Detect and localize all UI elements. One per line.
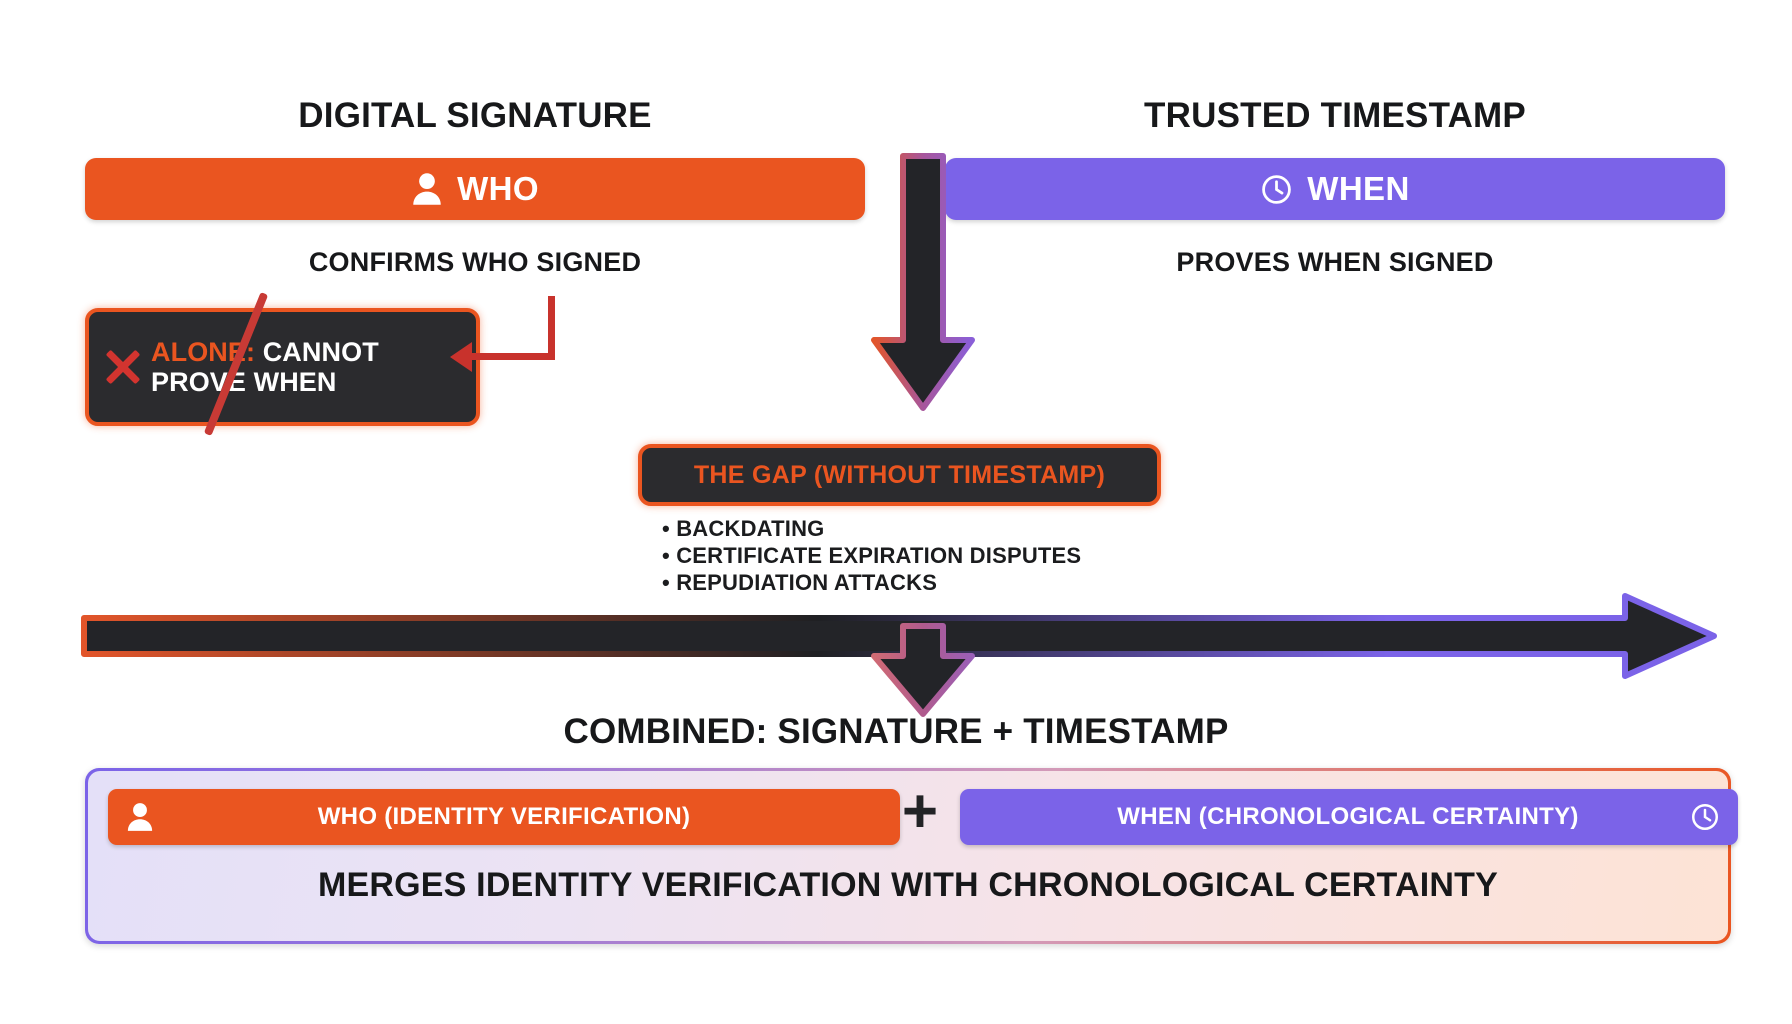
elbow-horizontal-segment	[472, 353, 555, 360]
combined-when-pill: WHEN (CHRONOLOGICAL CERTAINTY)	[960, 789, 1738, 845]
right-column-title: TRUSTED TIMESTAMP	[945, 96, 1725, 136]
person-icon	[126, 802, 154, 832]
combined-panel: WHO (IDENTITY VERIFICATION) + WHEN (CHRO…	[85, 768, 1731, 944]
alone-line1-rest: CANNOT	[255, 337, 379, 367]
gap-items-list: • BACKDATING • CERTIFICATE EXPIRATION DI…	[662, 516, 1081, 596]
combined-when-label: WHEN (CHRONOLOGICAL CERTAINTY)	[1006, 803, 1690, 831]
combined-panel-inner: WHO (IDENTITY VERIFICATION) + WHEN (CHRO…	[88, 771, 1728, 941]
combined-who-label: WHO (IDENTITY VERIFICATION)	[154, 803, 854, 831]
gap-item: • CERTIFICATE EXPIRATION DISPUTES	[662, 543, 1081, 570]
elbow-vertical-segment	[548, 296, 555, 360]
left-column-caption: CONFIRMS WHO SIGNED	[85, 247, 865, 278]
when-pill-label: WHEN	[1307, 170, 1409, 208]
gap-item: • BACKDATING	[662, 516, 1081, 543]
elbow-arrow-head	[450, 342, 472, 372]
combined-who-pill: WHO (IDENTITY VERIFICATION)	[108, 789, 900, 845]
combined-footer-text: MERGES IDENTITY VERIFICATION WITH CHRONO…	[88, 866, 1728, 905]
who-pill: WHO	[85, 158, 865, 220]
alone-alert-box: ALONE: CANNOT PROVE WHEN	[85, 308, 480, 426]
clock-icon	[1260, 173, 1293, 206]
gap-heading: THE GAP (WITHOUT TIMESTAMP)	[694, 461, 1105, 490]
alone-line2: PROVE WHEN	[151, 367, 337, 397]
gap-box: THE GAP (WITHOUT TIMESTAMP)	[638, 444, 1161, 506]
right-column-caption: PROVES WHEN SIGNED	[945, 247, 1725, 278]
diagram-canvas: DIGITAL SIGNATURE WHO CONFIRMS WHO SIGNE…	[0, 0, 1792, 1024]
down-arrow-bottom	[862, 622, 984, 720]
down-arrow-top	[862, 152, 984, 417]
plus-icon: +	[886, 781, 954, 843]
clock-icon	[1690, 802, 1720, 832]
x-mark-icon	[103, 347, 143, 387]
alone-alert-text: ALONE: CANNOT PROVE WHEN	[151, 337, 379, 397]
combined-title: COMBINED: SIGNATURE + TIMESTAMP	[0, 712, 1792, 752]
when-pill: WHEN	[945, 158, 1725, 220]
left-column-title: DIGITAL SIGNATURE	[85, 96, 865, 136]
person-icon	[411, 172, 443, 206]
who-pill-label: WHO	[457, 170, 539, 208]
red-elbow-arrow	[440, 296, 570, 386]
